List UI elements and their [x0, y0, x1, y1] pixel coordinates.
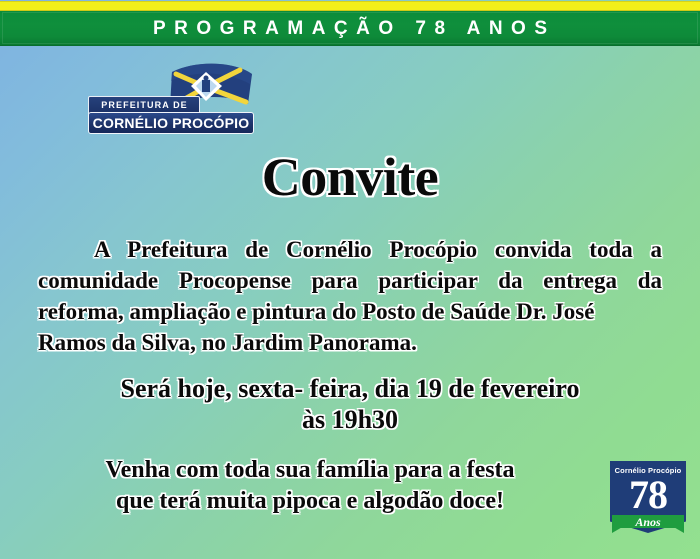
event-time-line: às 19h30 — [0, 404, 700, 435]
city-plate: CORNÉLIO PROCÓPIO — [88, 112, 254, 134]
city-label: CORNÉLIO PROCÓPIO — [89, 113, 253, 133]
anniversary-badge: Cornélio Procópio 78 Anos — [610, 461, 686, 539]
prefeitura-logo: PREFEITURA DE CORNÉLIO PROCÓPIO — [88, 62, 254, 134]
closing-line-2: que terá muita pipoca e algodão doce! — [0, 486, 620, 517]
event-datetime: Será hoje, sexta- feira, dia 19 de fever… — [0, 373, 700, 435]
event-date-line: Será hoje, sexta- feira, dia 19 de fever… — [0, 373, 700, 404]
invitation-paragraph-last-line: Ramos da Silva, no Jardim Panorama. — [38, 327, 662, 358]
top-banner: PROGRAMAÇÃO 78 ANOS — [0, 0, 700, 47]
page-title: Convite — [0, 150, 700, 204]
badge-anos-label: Anos — [612, 515, 684, 530]
badge-number-label: 78 — [610, 473, 686, 517]
invitation-paragraph: A Prefeitura de Cornélio Procópio convid… — [38, 237, 662, 324]
yellow-stripe — [0, 1, 700, 11]
closing-message: Venha com toda sua família para a festa … — [0, 455, 620, 517]
banner-title: PROGRAMAÇÃO 78 ANOS — [0, 11, 700, 46]
invitation-body: A Prefeitura de Cornélio Procópio convid… — [38, 234, 662, 358]
closing-line-1: Venha com toda sua família para a festa — [0, 455, 620, 486]
invitation-poster: PROGRAMAÇÃO 78 ANOS PREFEITURA DE CORNÉL… — [0, 0, 700, 559]
